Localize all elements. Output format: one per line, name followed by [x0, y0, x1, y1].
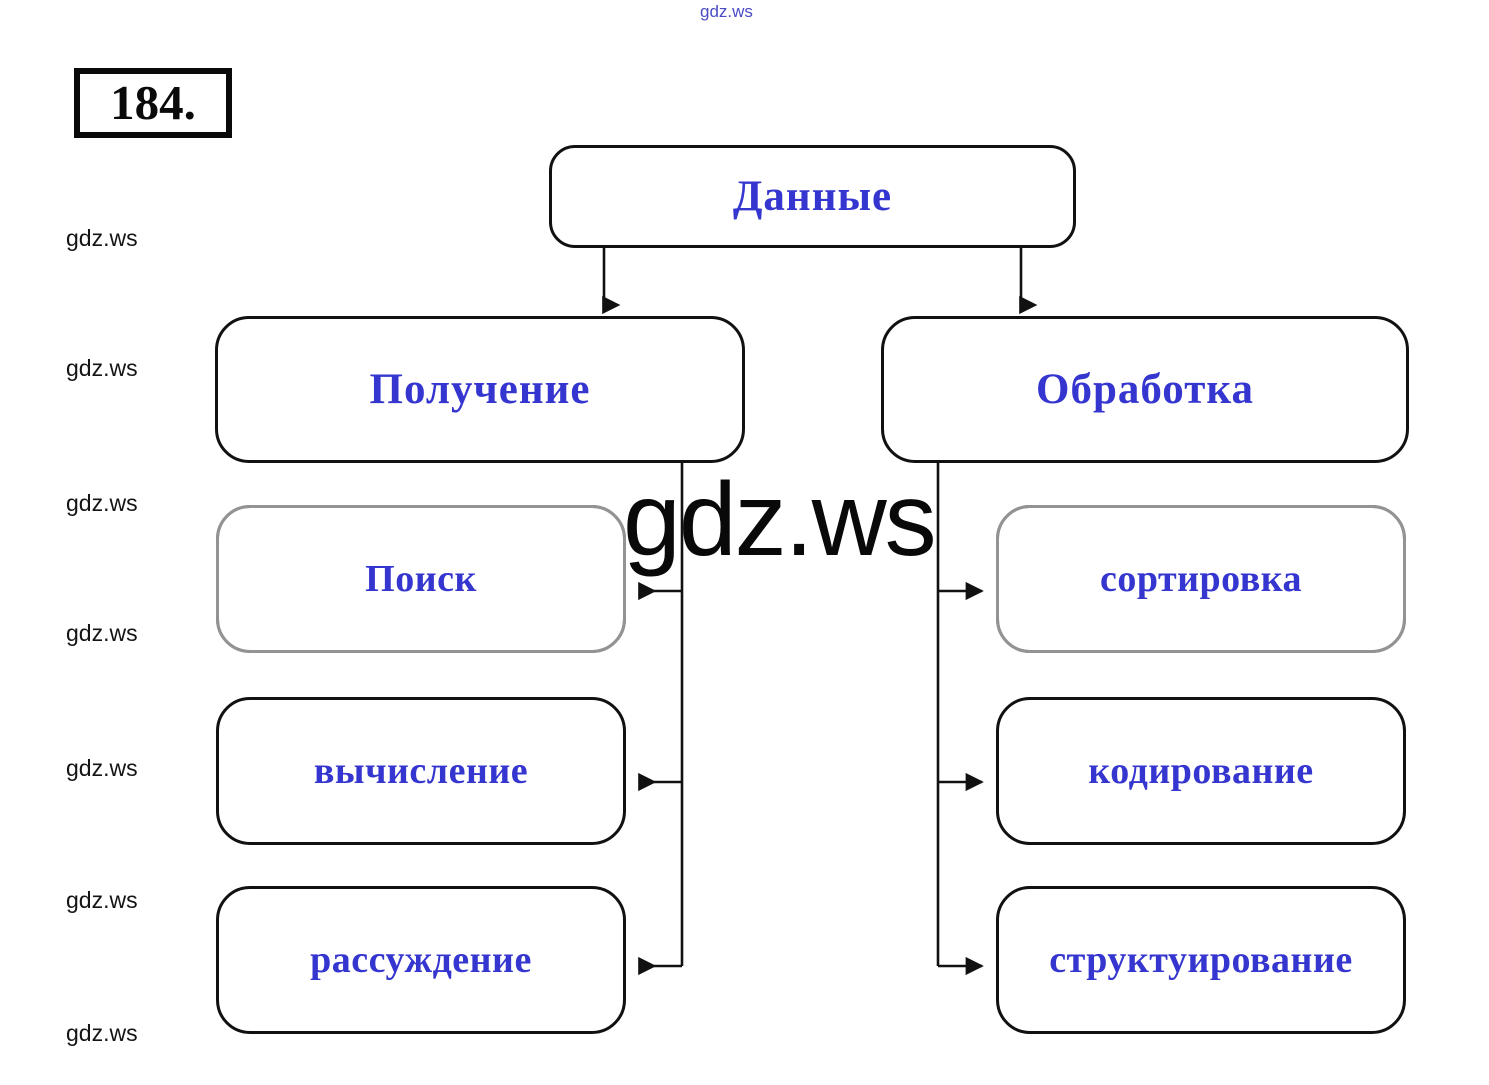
diagram-node-obrabotka[interactable]: Обработка: [881, 316, 1409, 463]
worksheet-page: gdz.ws 184. Данные: [0, 0, 1489, 1085]
node-label: Обработка: [1036, 368, 1254, 411]
watermark-side: gdz.ws: [66, 887, 138, 914]
diagram-node-poisk[interactable]: Поиск: [216, 505, 626, 653]
node-label: Получение: [370, 368, 591, 411]
node-label: кодирование: [1088, 752, 1313, 790]
watermark-side: gdz.ws: [66, 355, 138, 382]
node-label: рассуждение: [310, 941, 532, 979]
node-label: структуирование: [1049, 941, 1352, 979]
diagram-node-rassuzhdenie[interactable]: рассуждение: [216, 886, 626, 1034]
node-label: сортировка: [1100, 560, 1302, 598]
node-label: Данные: [733, 175, 892, 218]
diagram-node-strukturirovanie[interactable]: структуирование: [996, 886, 1406, 1034]
watermark-side: gdz.ws: [66, 490, 138, 517]
exercise-number: 184.: [74, 68, 232, 138]
watermark-side: gdz.ws: [66, 620, 138, 647]
diagram-node-vychislenie[interactable]: вычисление: [216, 697, 626, 845]
node-label: вычисление: [314, 752, 528, 790]
watermark-side: gdz.ws: [66, 225, 138, 252]
watermark-large: gdz.ws: [623, 468, 935, 572]
node-label: Поиск: [365, 560, 477, 598]
diagram-node-kodirovanie[interactable]: кодирование: [996, 697, 1406, 845]
watermark-side: gdz.ws: [66, 755, 138, 782]
watermark-top: gdz.ws: [700, 2, 753, 22]
diagram-node-poluchenie[interactable]: Получение: [215, 316, 745, 463]
watermark-side: gdz.ws: [66, 1020, 138, 1047]
diagram-node-root[interactable]: Данные: [549, 145, 1076, 248]
diagram-node-sortirovka[interactable]: сортировка: [996, 505, 1406, 653]
